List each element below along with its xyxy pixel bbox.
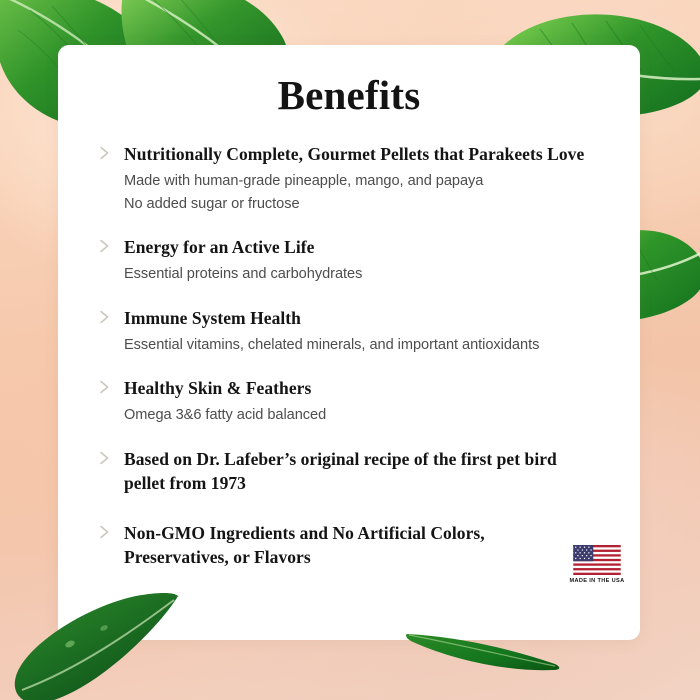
benefit-title: Immune System Health [124, 307, 616, 331]
benefit-title: Healthy Skin & Feathers [124, 377, 616, 401]
leaf-bottom-left-icon [10, 592, 195, 700]
usa-flag-icon [573, 545, 621, 575]
made-in-usa-badge: MADE IN THE USA [566, 545, 628, 584]
benefit-title: Nutritionally Complete, Gourmet Pellets … [124, 143, 616, 167]
benefit-detail: Omega 3&6 fatty acid balanced [124, 404, 616, 427]
benefit-title: Energy for an Active Life [124, 236, 616, 260]
benefits-card: Benefits Nutritionally Complete, Gourmet… [58, 45, 640, 640]
benefit-title: Non-GMO Ingredients and No Artificial Co… [124, 522, 524, 570]
list-item: Immune System Health Essential vitamins,… [96, 307, 616, 357]
chevron-right-icon [99, 451, 111, 465]
made-in-usa-caption: MADE IN THE USA [566, 578, 628, 584]
benefits-list: Nutritionally Complete, Gourmet Pellets … [96, 143, 616, 573]
list-item: Healthy Skin & Feathers Omega 3&6 fatty … [96, 377, 616, 427]
list-item: Non-GMO Ingredients and No Artificial Co… [96, 522, 616, 570]
chevron-right-icon [99, 310, 111, 324]
benefit-detail: Made with human-grade pineapple, mango, … [124, 170, 616, 193]
chevron-right-icon [99, 146, 111, 160]
product-benefits-image: Benefits Nutritionally Complete, Gourmet… [0, 0, 700, 700]
leaf-bottom-center-icon [405, 632, 565, 687]
benefit-title: Based on Dr. Lafeber’s original recipe o… [124, 448, 594, 496]
benefit-detail: Essential vitamins, chelated minerals, a… [124, 334, 616, 357]
benefit-detail: Essential proteins and carbohydrates [124, 263, 616, 286]
chevron-right-icon [99, 380, 111, 394]
chevron-right-icon [99, 525, 111, 539]
chevron-right-icon [99, 239, 111, 253]
list-item: Based on Dr. Lafeber’s original recipe o… [96, 448, 616, 496]
list-item: Nutritionally Complete, Gourmet Pellets … [96, 143, 616, 215]
benefit-detail: No added sugar or fructose [124, 193, 616, 216]
list-item: Energy for an Active Life Essential prot… [96, 236, 616, 286]
page-title: Benefits [58, 75, 640, 116]
